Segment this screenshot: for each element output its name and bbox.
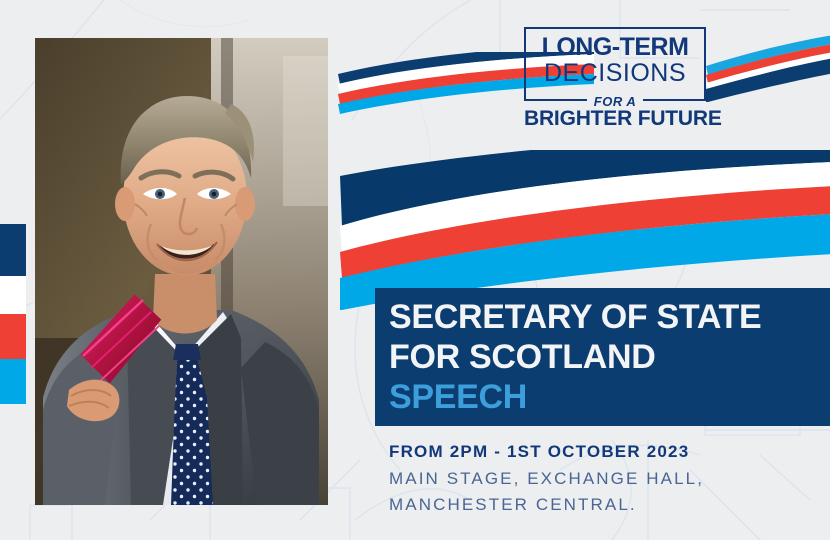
logo-line-for-a: FOR A	[587, 95, 643, 108]
stripe-navy	[0, 224, 26, 276]
logo-line-long-term: LONG-TERM	[534, 35, 696, 60]
headline-line-2: FOR SCOTLAND	[389, 337, 761, 377]
stripe-light-blue	[0, 359, 26, 404]
headline-line-3-speech: SPEECH	[389, 377, 761, 417]
event-poster: LONG-TERM DECISIONS FOR A BRIGHTER FUTUR…	[0, 0, 830, 540]
headline-line-1: SECRETARY OF STATE	[389, 297, 761, 337]
headline-text: SECRETARY OF STATE FOR SCOTLAND SPEECH	[389, 297, 761, 417]
stripe-white	[0, 276, 26, 314]
long-term-decisions-logo: LONG-TERM DECISIONS FOR A BRIGHTER FUTUR…	[524, 27, 706, 129]
logo-box: LONG-TERM DECISIONS FOR A	[524, 27, 706, 101]
logo-line-brighter-future: BRIGHTER FUTURE	[524, 108, 706, 129]
venue-line-1: MAIN STAGE, EXCHANGE HALL,	[389, 466, 809, 492]
logo-line-decisions: DECISIONS	[534, 60, 696, 87]
logo-for-a-wrapper: FOR A	[526, 95, 704, 108]
ribbon-main	[334, 150, 830, 310]
left-stripe-block	[0, 224, 26, 404]
event-details: FROM 2PM - 1ST OCTOBER 2023 MAIN STAGE, …	[389, 441, 809, 517]
event-time-and-date: FROM 2PM - 1ST OCTOBER 2023	[389, 441, 809, 462]
stripe-red	[0, 314, 26, 359]
ribbon-top-right	[700, 22, 830, 102]
headline-panel: SECRETARY OF STATE FOR SCOTLAND SPEECH	[375, 288, 830, 426]
venue-line-2: MANCHESTER CENTRAL.	[389, 492, 809, 518]
speaker-portrait-photo	[35, 38, 328, 505]
event-venue: MAIN STAGE, EXCHANGE HALL, MANCHESTER CE…	[389, 466, 809, 517]
